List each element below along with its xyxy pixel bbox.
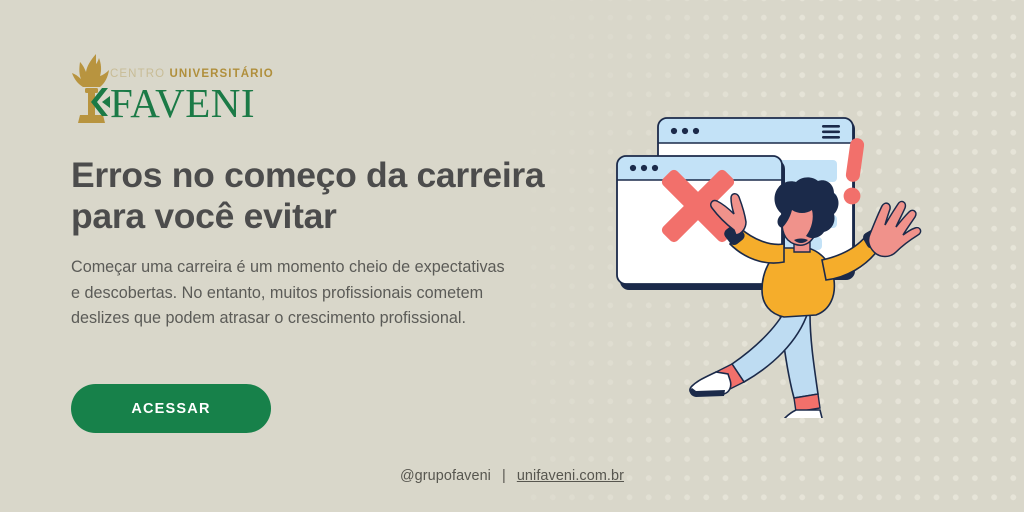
website-link[interactable]: unifaveni.com.br: [517, 468, 624, 484]
footer: @grupofaveni|unifaveni.com.br: [0, 468, 1024, 484]
logo-tagline-universitario: UNIVERSITÁRIO: [169, 68, 273, 80]
social-handle: @grupofaveni: [400, 468, 491, 484]
logo-wordmark: CENTRO UNIVERSITÁRIO FAVENI: [110, 68, 274, 124]
page-title: Erros no começo da carreira para você ev…: [71, 155, 571, 237]
logo-name: FAVENI: [110, 82, 274, 124]
body-text: Começar uma carreira é um momento cheio …: [71, 255, 513, 332]
acessar-button[interactable]: ACESSAR: [71, 384, 271, 433]
browser-window-front: [617, 156, 785, 290]
woman-pointing-at-error-windows-illustration: [612, 98, 942, 418]
woman-character: [690, 177, 921, 418]
faveni-logo[interactable]: CENTRO UNIVERSITÁRIO FAVENI: [66, 52, 306, 126]
footer-separator: |: [502, 468, 506, 484]
logo-tagline-centro: CENTRO: [110, 68, 169, 80]
promo-banner: CENTRO UNIVERSITÁRIO FAVENI Erros no com…: [0, 0, 1024, 512]
